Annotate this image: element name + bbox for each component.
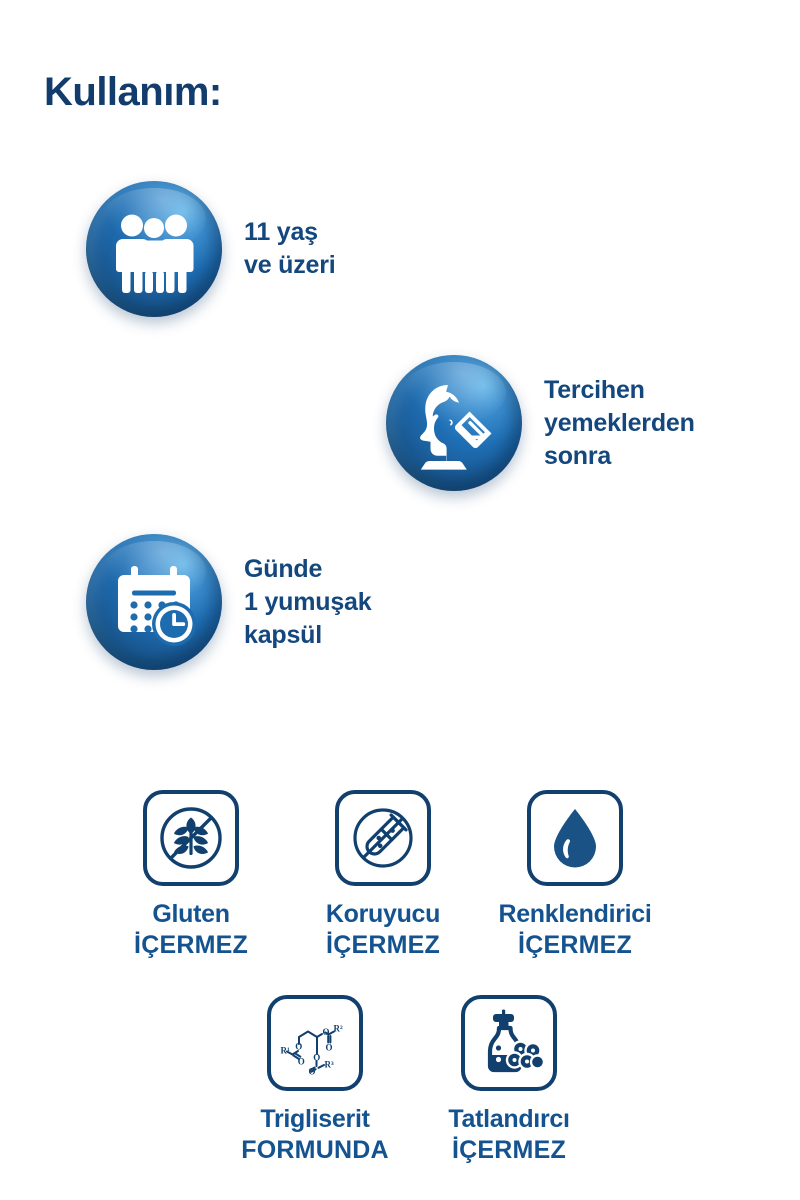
claim-badge-preservative-free-caption: Koruyucu İÇERMEZ (326, 899, 440, 960)
claim-badge-sweetener-free-caption: Tatlandırcı İÇERMEZ (448, 1104, 569, 1165)
claim-colorant-line2: İÇERMEZ (498, 930, 651, 961)
sweetener-jar-icon (461, 995, 557, 1091)
molecule-r3-label: R³ (325, 1060, 334, 1070)
calendar-clock-icon (86, 534, 222, 670)
claim-gluten-line1: Gluten (134, 899, 248, 930)
claim-badge-gluten-free-caption: Gluten İÇERMEZ (134, 899, 248, 960)
person-taking-capsule-icon (386, 355, 522, 491)
color-drop-icon (527, 790, 623, 886)
usage-meal-line1: Tercihen (544, 376, 645, 404)
usage-item-daily-dose: Günde 1 yumuşak kapsül (86, 534, 371, 670)
usage-infographic-page: Kullanım: (0, 0, 800, 1200)
claim-preservative-line2: İÇERMEZ (326, 930, 440, 961)
molecule-oxygen-5: O (298, 1057, 305, 1067)
usage-age-line2: ve üzeri (244, 251, 336, 279)
usage-dose-line3: kapsül (244, 621, 322, 649)
molecule-oxygen-2: O (323, 1027, 330, 1037)
three-people-icon (86, 181, 222, 317)
usage-meal-line3: sonra (544, 442, 611, 470)
no-gluten-wheat-icon (143, 790, 239, 886)
claim-colorant-line1: Renklendirici (498, 899, 651, 930)
claim-badge-triglyceride-form: O O O O O O R¹ R² R³ Trigliserit FORMUND… (242, 995, 388, 1165)
molecule-r2-label: R² (334, 1024, 343, 1034)
usage-item-age-label: 11 yaş ve üzeri (244, 216, 336, 282)
molecule-oxygen-3: O (326, 1043, 333, 1053)
claim-sweetener-line2: İÇERMEZ (448, 1135, 569, 1166)
claim-badge-sweetener-free: Tatlandırcı İÇERMEZ (436, 995, 582, 1165)
page-title: Kullanım: (44, 72, 222, 112)
usage-item-daily-dose-label: Günde 1 yumuşak kapsül (244, 553, 371, 652)
usage-item-age: 11 yaş ve üzeri (86, 181, 336, 317)
usage-age-line1: 11 yaş (244, 218, 318, 246)
claim-badge-gluten-free: Gluten İÇERMEZ (118, 790, 264, 960)
claim-triglyceride-line1: Trigliserit (241, 1104, 388, 1135)
usage-item-after-meal: Tercihen yemeklerden sonra (386, 355, 695, 491)
claim-triglyceride-line2: FORMUNDA (241, 1135, 388, 1166)
claims-row-primary: Gluten İÇERMEZ (118, 790, 648, 960)
claim-badge-colorant-free: Renklendirici İÇERMEZ (502, 790, 648, 960)
claim-preservative-line1: Koruyucu (326, 899, 440, 930)
molecule-r1-label: R¹ (281, 1046, 290, 1056)
claim-badge-triglyceride-caption: Trigliserit FORMUNDA (241, 1104, 388, 1165)
claim-gluten-line2: İÇERMEZ (134, 930, 248, 961)
molecule-oxygen-1: O (295, 1042, 302, 1052)
molecule-oxygen-6: O (309, 1067, 316, 1077)
usage-meal-line2: yemeklerden (544, 409, 695, 437)
molecule-oxygen-4: O (313, 1053, 320, 1063)
usage-dose-line1: Günde (244, 555, 322, 583)
triglyceride-molecule-icon: O O O O O O R¹ R² R³ (267, 995, 363, 1091)
claim-sweetener-line1: Tatlandırcı (448, 1104, 569, 1135)
claim-badge-colorant-free-caption: Renklendirici İÇERMEZ (498, 899, 651, 960)
usage-dose-line2: 1 yumuşak (244, 588, 371, 616)
usage-item-after-meal-label: Tercihen yemeklerden sonra (544, 374, 695, 473)
no-preservative-tube-icon (335, 790, 431, 886)
claims-row-secondary: O O O O O O R¹ R² R³ Trigliserit FORMUND… (242, 995, 582, 1165)
claim-badge-preservative-free: Koruyucu İÇERMEZ (310, 790, 456, 960)
